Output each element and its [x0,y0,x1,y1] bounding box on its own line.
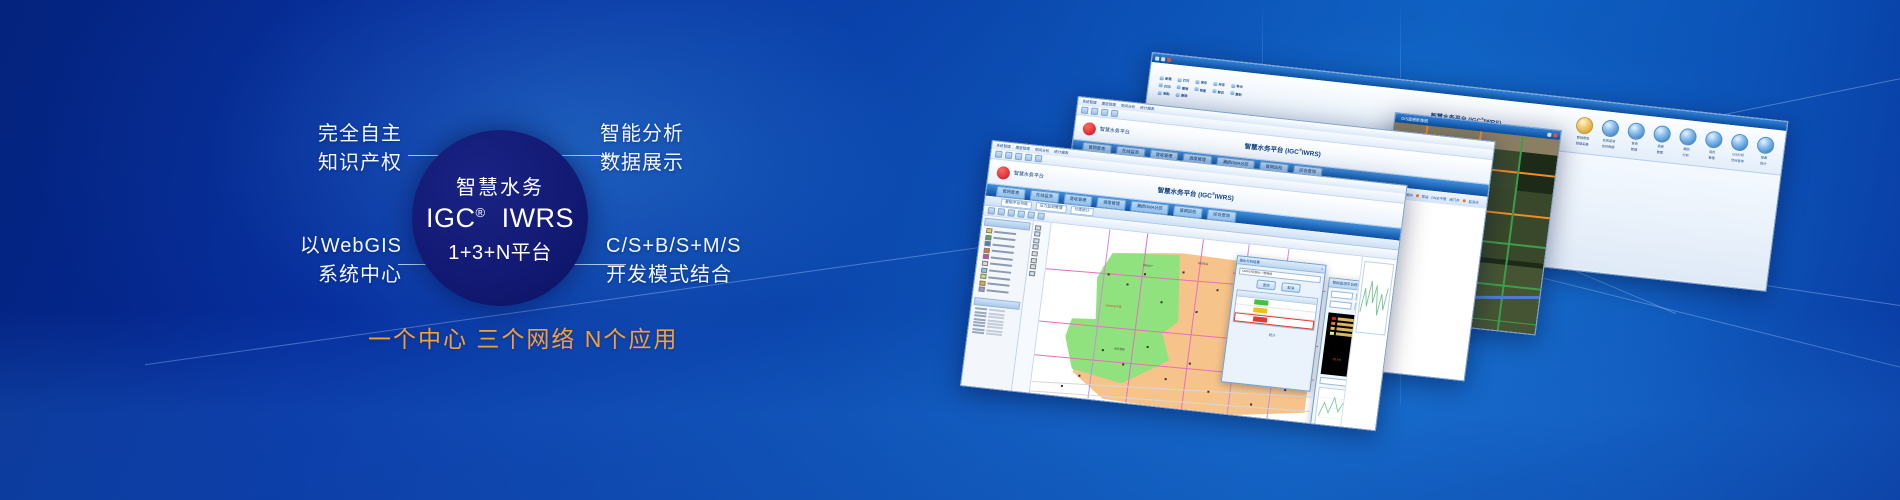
identify-icon[interactable] [1025,154,1033,162]
tool-strip-item[interactable] [1033,238,1048,244]
ribbon-cmd-label: 撤销 [1182,85,1189,91]
dialog-result-table [1233,289,1319,331]
tool-strip-item[interactable] [1030,264,1045,270]
legend-swatch-yellow-icon [1330,327,1334,330]
zoom-out-icon[interactable] [1101,109,1109,117]
donut-note-left: 29.1% [1332,357,1341,362]
full-extent-icon[interactable] [1017,210,1025,218]
dialog-title: 漏水分析结果 [1239,257,1260,264]
center-badge-title: 智慧水务 [456,171,544,200]
export-icon [1231,83,1235,87]
patrol-icon [1704,130,1723,149]
ribbon-icon-3[interactable]: 调度管理 [1651,124,1672,155]
ribbon-cmd[interactable]: 另存 [1213,81,1225,87]
hand-icon[interactable] [997,208,1005,216]
tool-strip-item[interactable] [1034,231,1049,237]
middle-logo-text: 智慧水务平台 [1099,126,1130,135]
ribbon-cmd-label: 打开 [1183,78,1190,84]
revenue-icon [1627,121,1646,140]
label-top-left: 完全自主 知识产权 [186,120,402,178]
ribbon-cmd-label: 保存 [1200,79,1207,85]
ribbon-cmd[interactable]: 复制 [1230,90,1242,96]
ribbon-cmd-label: 恢复 [1200,87,1207,93]
survey-icon [1575,116,1594,135]
legend-tag: 泵站 [1421,193,1428,199]
menu-item[interactable]: 统计报表 [1140,105,1155,112]
ribbon-cmd[interactable]: 新建 [1159,75,1171,81]
label-bottom-left-line2: 系统中心 [176,261,402,290]
company-logo-icon [996,165,1011,179]
menu-item-reports[interactable]: 统计报表 [1054,149,1069,156]
side-sparkline [1355,261,1394,336]
tool-strip-item[interactable] [1035,225,1050,231]
label-bottom-right: C/S+B/S+M/S 开发模式结合 [606,232,742,290]
tool-strip-item[interactable] [1031,257,1046,263]
tool-strip-item[interactable] [1032,244,1047,250]
ribbon-cmd-label: 另存 [1218,81,1225,87]
label-top-left-line1: 完全自主 [186,120,402,149]
company-logo-icon [1082,121,1097,135]
label-top-right-line2: 数据展示 [600,149,684,178]
leakage-icon [1679,127,1698,146]
legend-row [1330,332,1352,337]
label-bottom-left: 以WebGIS 系统中心 [176,232,402,290]
save-icon [1195,79,1199,83]
ribbon-icon-2[interactable]: 营收管理 [1625,121,1646,152]
ribbon-cmd[interactable]: 保存 [1195,79,1207,85]
paste-icon [1158,90,1162,94]
donut-legend [1329,317,1353,339]
report-icon [1756,135,1775,154]
print-icon [1159,83,1163,87]
legend-swatch-lightyellow-icon [1330,332,1334,335]
dialog-footer: 统计 [1231,328,1313,342]
legend-swatch-orange-icon [1331,322,1335,325]
copy-icon [1230,91,1234,95]
print-icon[interactable] [1027,211,1035,219]
legend-tag: 阀门井 [1449,196,1460,202]
menu-item[interactable]: 空间分析 [1121,103,1136,110]
legend-dot-orange-icon [1416,194,1419,197]
open-icon [1177,77,1181,81]
properties-panel [970,297,1020,337]
layer-icon[interactable] [1037,212,1045,220]
center-badge: 智慧水务 IGC® IWRS 1+3+N平台 [412,130,588,306]
select-icon[interactable] [1111,110,1119,118]
ribbon-cmd[interactable]: 撤销 [1176,84,1188,90]
menu-item-layers[interactable]: 图层管理 [1015,145,1030,152]
center-badge-product: IGC® IWRS [426,204,574,234]
label-top-right-line1: 智能分析 [600,120,684,149]
ribbon-cmd-label: 剪切 [1217,89,1224,95]
dialog-close-icon[interactable]: × [1321,267,1323,271]
registered-icon: ® [475,205,485,220]
ribbon-cmd-label: 复制 [1235,91,1242,97]
pan-icon[interactable] [1081,106,1089,114]
saveas-icon [1213,81,1217,85]
ribbon-cmd[interactable]: 剪切 [1212,88,1224,94]
banner-stage: 智慧水务 IGC® IWRS 1+3+N平台 完全自主 知识产权 以WebGIS… [0,0,1900,500]
ribbon-cmd[interactable]: 粘贴 [1158,90,1170,96]
dispatch-icon [1653,124,1672,143]
floor-glow [0,310,1900,500]
monitor-icon [1601,119,1620,138]
menu-item[interactable]: 系统管理 [1082,99,1097,106]
dialog-filter-value: DMA分区统计 / 管网段 [1242,269,1273,276]
new-icon [1160,76,1164,80]
zoom-in-icon[interactable] [1005,152,1013,160]
minimize-icon[interactable] [1155,56,1159,60]
product-iwrs: IWRS [502,203,575,233]
gis-map-canvas[interactable]: 城北水厂 加压泵站 DN600主干管 南区管网 调压阀井 漏水分析结果 × DM… [1029,223,1362,431]
menu-item[interactable]: 图层管理 [1101,101,1116,108]
ribbon-cmd-label: 导出 [1236,83,1243,89]
ribbon-cmd[interactable]: 导出 [1231,83,1243,89]
legend-tag: DN主干管 [1431,194,1447,201]
label-bottom-right-line1: C/S+B/S+M/S [606,232,742,261]
ribbon-cmd-label: 粘贴 [1163,90,1170,96]
legend-tag: 监测点 [1468,198,1479,204]
close-icon[interactable] [1553,133,1557,137]
front-logo-text: 智慧水务平台 [1013,170,1044,179]
ribbon-icon-0[interactable]: 管网普查数据采集 [1574,116,1595,147]
dialog-query-button[interactable]: 查询 [1256,279,1276,290]
ribbon-cmd-label: 打印 [1164,83,1171,89]
delete-icon [1175,92,1179,96]
ribbon-cmd-label: 删除 [1181,92,1188,98]
zoom-out-icon[interactable] [1015,153,1023,161]
product-igc: IGC [426,203,476,233]
legend-dot-orange-icon [1462,199,1465,202]
close-icon[interactable] [1167,57,1171,61]
gis-icon [1730,133,1749,152]
tool-strip-item[interactable] [1029,271,1044,277]
label-top-left-line2: 知识产权 [186,149,402,178]
legend-swatch-red-icon [1332,317,1336,320]
dashboard-title: 管网监测平台统计 [1332,280,1361,288]
center-badge-platform: 1+3+N平台 [448,236,552,265]
undo-icon [1176,85,1180,89]
menu-item-analysis[interactable]: 空间分析 [1035,147,1050,154]
zoom-icon[interactable] [1007,209,1015,217]
maximize-icon[interactable] [1161,57,1165,61]
zoom-in-icon[interactable] [1091,108,1099,116]
leak-analysis-dialog[interactable]: 漏水分析结果 × DMA分区统计 / 管网段 查询 取消 [1221,255,1327,392]
label-top-right: 智能分析 数据展示 [600,120,684,178]
ribbon-icon-4[interactable]: 漏损分析 [1677,127,1698,158]
cut-icon [1212,89,1216,93]
ribbon-icon-7[interactable]: 报表统计 [1755,135,1776,166]
label-bottom-left-line1: 以WebGIS [176,232,402,261]
redo-icon [1194,87,1198,91]
measure-icon[interactable] [1035,155,1043,163]
minimize-icon[interactable] [1547,132,1551,136]
dialog-cancel-button[interactable]: 取消 [1281,282,1301,293]
menu-item-system[interactable]: 系统管理 [996,143,1011,150]
ribbon-icon-1[interactable]: 在线监测实时数据 [1599,119,1620,150]
middle-window-title: 智慧水务平台 (IGC®IWRS) [1244,140,1321,158]
ribbon-cmd[interactable]: 打印 [1158,82,1170,88]
ribbon-icon-6[interactable]: GIS分析空间查询 [1729,133,1750,164]
window-front[interactable]: 系统管理 图层管理 空间分析 统计报表 智慧水务平台 智慧水务平台 (IGC®I… [960,140,1408,431]
ribbon-command-grid[interactable]: 新建 打开 保存 另存 导出 打印 撤销 恢复 剪切 复制 粘贴 删除 [1158,75,1249,104]
front-window-title: 智慧水务平台 (IGC®IWRS) [1157,184,1234,202]
legend-tag: 管网 [1406,192,1413,198]
ribbon-cmd[interactable]: 删除 [1175,92,1187,98]
ribbon-cmd-label: 新建 [1165,76,1172,82]
arrow-icon[interactable] [987,207,995,215]
side-sparkline-svg [1356,262,1393,334]
label-bottom-right-line2: 开发模式结合 [606,261,742,290]
filter-input[interactable] [1329,300,1352,309]
ribbon-cmd[interactable]: 恢复 [1194,86,1206,92]
dialog-body: DMA分区统计 / 管网段 查询 取消 统计 [1228,264,1325,345]
ribbon-cmd[interactable]: 打开 [1177,77,1189,83]
pan-icon[interactable] [995,150,1003,158]
tool-strip-item[interactable] [1031,251,1046,257]
filter-input[interactable] [1331,291,1354,300]
tagline: 一个中心 三个网络 N个应用 [368,320,678,354]
ribbon-icon-5[interactable]: 巡检管理 [1703,130,1724,161]
